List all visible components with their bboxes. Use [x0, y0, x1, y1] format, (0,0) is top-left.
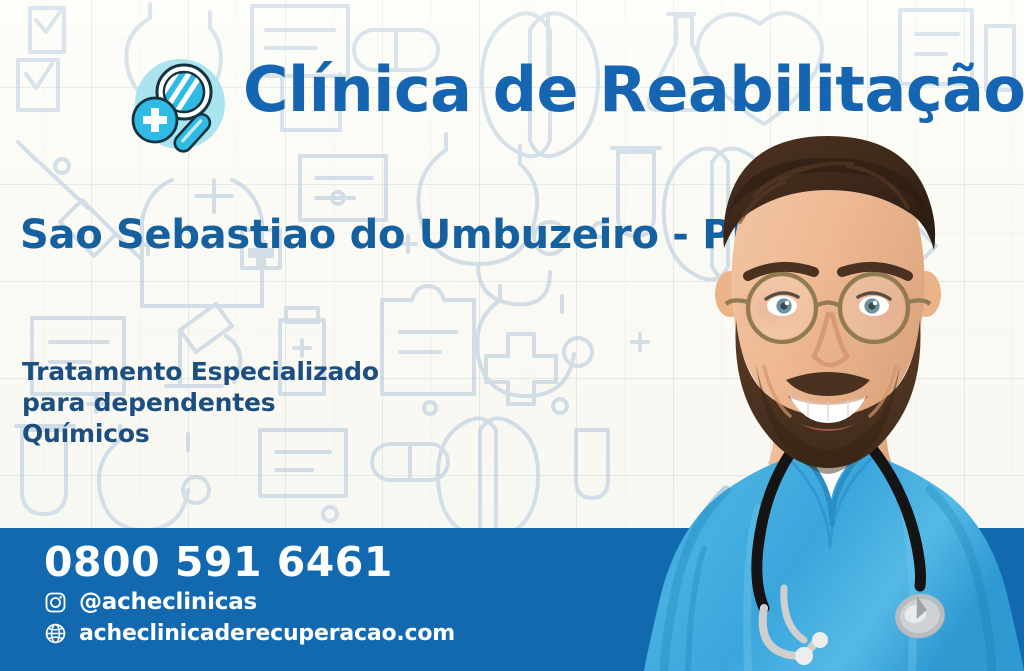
globe-icon	[44, 622, 67, 645]
clinic-advertisement-banner: Clínica de Reabilitação Sao Sebastiao do…	[0, 0, 1024, 671]
website-contact[interactable]: acheclinicaderecuperacao.com	[44, 622, 455, 645]
tagline-line-1: Tratamento Especializado	[22, 356, 379, 387]
page-title: Clínica de Reabilitação	[243, 59, 1024, 121]
instagram-contact[interactable]: @acheclinicas	[44, 591, 257, 614]
phone-number[interactable]: 0800 591 6461	[44, 542, 393, 583]
tagline-line-2: para dependentes	[22, 387, 379, 418]
clinic-logo	[122, 50, 234, 162]
instagram-icon	[44, 591, 67, 614]
doctor-photo	[608, 118, 1024, 671]
instagram-handle: @acheclinicas	[79, 591, 257, 614]
website-url: acheclinicaderecuperacao.com	[79, 623, 455, 645]
tagline-line-3: Químicos	[22, 418, 379, 449]
service-tagline: Tratamento Especializado para dependente…	[22, 356, 379, 449]
